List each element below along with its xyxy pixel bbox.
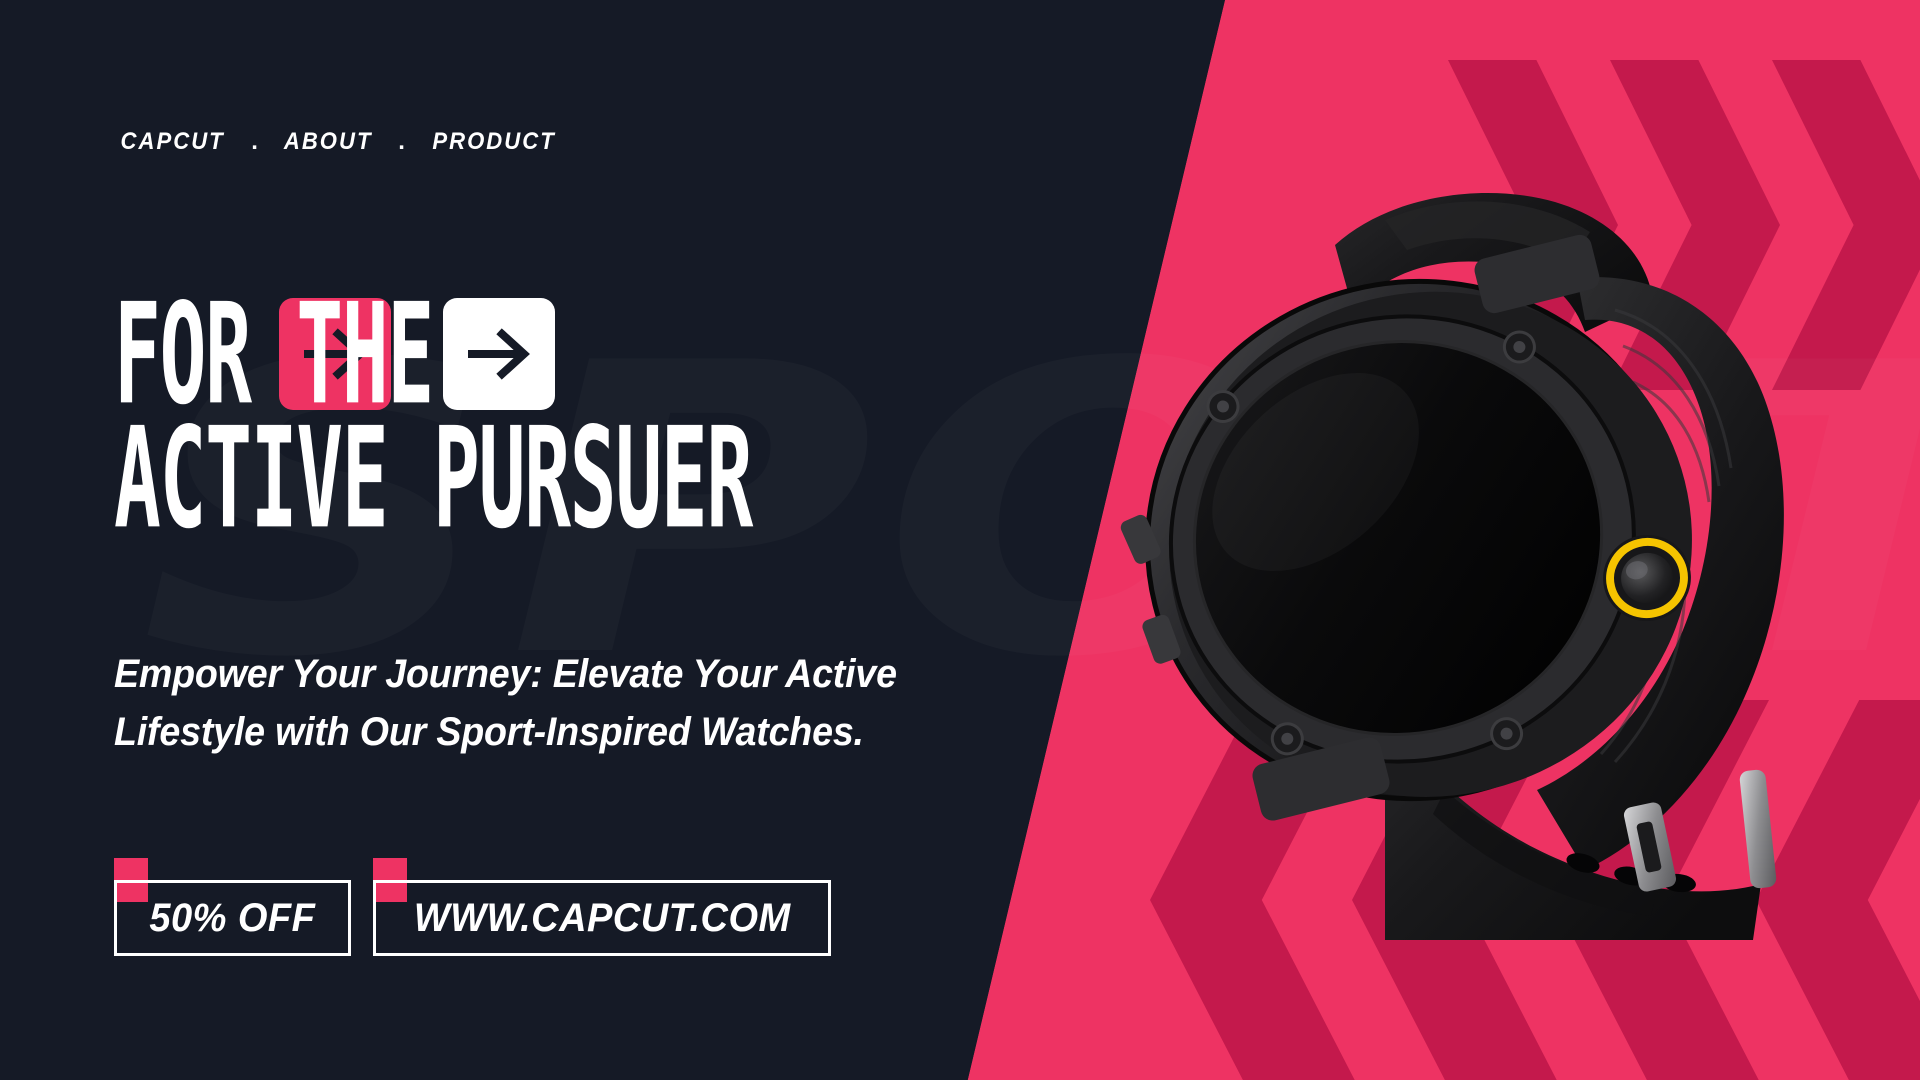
nav-item-about[interactable]: ABOUT [284, 128, 373, 156]
subtitle-line-2: Lifestyle with Our Sport-Inspired Watche… [114, 703, 960, 761]
nav-separator-1: . [229, 130, 280, 154]
subtitle-block: Empower Your Journey: Elevate Your Activ… [114, 645, 1014, 761]
headline-row-2: ACTIVE PURSUER [114, 424, 1081, 532]
nav-item-product[interactable]: PRODUCT [432, 128, 555, 156]
arrow-right-icon [466, 321, 532, 387]
top-navigation: CAPCUT . ABOUT . PRODUCT [116, 128, 561, 156]
website-badge-label: WWW.CAPCUT.COM [414, 898, 791, 938]
nav-item-capcut[interactable]: CAPCUT [121, 128, 225, 156]
website-badge-wrapper: WWW.CAPCUT.COM [373, 880, 832, 956]
arrow-button-secondary[interactable] [443, 298, 555, 410]
nav-separator-2: . [376, 130, 427, 154]
discount-badge[interactable]: 50% OFF [114, 880, 351, 956]
headline-line-2: ACTIVE PURSUER [114, 414, 752, 542]
badge-group: 50% OFF WWW.CAPCUT.COM [114, 880, 831, 956]
subtitle-line-1: Empower Your Journey: Elevate Your Activ… [114, 645, 960, 703]
headline-block: FOR THE [114, 300, 1081, 532]
discount-badge-label: 50% OFF [149, 898, 315, 938]
promo-banner: SPORT CAPCUT . ABOUT . PRODUCT FOR THE [0, 0, 1920, 1080]
headline-row-1: FOR THE [114, 300, 1081, 408]
product-image-smartwatch [1085, 150, 1865, 940]
discount-badge-wrapper: 50% OFF [114, 880, 351, 956]
website-badge[interactable]: WWW.CAPCUT.COM [373, 880, 832, 956]
